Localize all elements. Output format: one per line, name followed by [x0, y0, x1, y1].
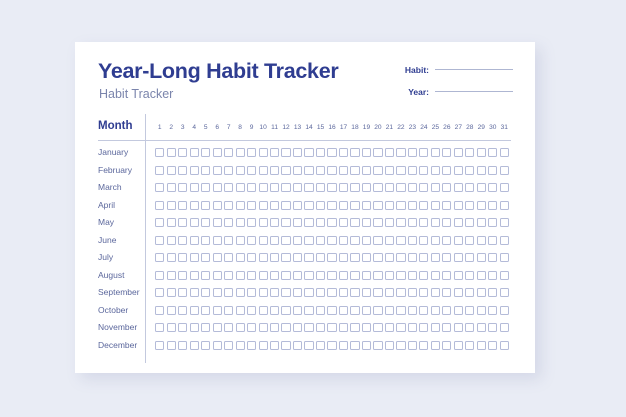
- habit-checkbox[interactable]: [442, 253, 451, 262]
- habit-cell[interactable]: [257, 148, 268, 157]
- habit-checkbox[interactable]: [201, 306, 210, 315]
- habit-checkbox[interactable]: [236, 341, 245, 350]
- habit-checkbox[interactable]: [316, 148, 325, 157]
- habit-cell[interactable]: [223, 288, 234, 297]
- habit-checkbox[interactable]: [201, 201, 210, 210]
- habit-cell[interactable]: [303, 148, 314, 157]
- habit-cell[interactable]: [269, 166, 280, 175]
- habit-checkbox[interactable]: [155, 288, 164, 297]
- habit-cell[interactable]: [338, 306, 349, 315]
- habit-checkbox[interactable]: [270, 201, 279, 210]
- habit-checkbox[interactable]: [304, 323, 313, 332]
- habit-cell[interactable]: [499, 166, 510, 175]
- habit-cell[interactable]: [223, 218, 234, 227]
- habit-checkbox[interactable]: [339, 306, 348, 315]
- habit-cell[interactable]: [361, 253, 372, 262]
- habit-checkbox[interactable]: [373, 183, 382, 192]
- habit-checkbox[interactable]: [247, 236, 256, 245]
- habit-checkbox[interactable]: [167, 236, 176, 245]
- habit-cell[interactable]: [211, 148, 222, 157]
- habit-cell[interactable]: [326, 218, 337, 227]
- habit-checkbox[interactable]: [488, 253, 497, 262]
- habit-cell[interactable]: [246, 201, 257, 210]
- habit-cell[interactable]: [372, 218, 383, 227]
- habit-checkbox[interactable]: [190, 288, 199, 297]
- habit-checkbox[interactable]: [408, 166, 417, 175]
- habit-cell[interactable]: [338, 271, 349, 280]
- habit-checkbox[interactable]: [178, 236, 187, 245]
- habit-cell[interactable]: [234, 306, 245, 315]
- habit-checkbox[interactable]: [167, 166, 176, 175]
- habit-cell[interactable]: [303, 306, 314, 315]
- habit-cell[interactable]: [453, 271, 464, 280]
- habit-cell[interactable]: [234, 323, 245, 332]
- habit-checkbox[interactable]: [178, 166, 187, 175]
- habit-checkbox[interactable]: [362, 323, 371, 332]
- habit-checkbox[interactable]: [488, 288, 497, 297]
- habit-checkbox[interactable]: [454, 323, 463, 332]
- habit-checkbox[interactable]: [488, 183, 497, 192]
- habit-cell[interactable]: [418, 148, 429, 157]
- habit-cell[interactable]: [430, 236, 441, 245]
- habit-cell[interactable]: [487, 323, 498, 332]
- habit-checkbox[interactable]: [316, 306, 325, 315]
- habit-checkbox[interactable]: [213, 236, 222, 245]
- habit-cell[interactable]: [303, 183, 314, 192]
- habit-checkbox[interactable]: [167, 306, 176, 315]
- habit-checkbox[interactable]: [465, 271, 474, 280]
- habit-cell[interactable]: [315, 271, 326, 280]
- habit-checkbox[interactable]: [304, 166, 313, 175]
- habit-checkbox[interactable]: [259, 306, 268, 315]
- habit-cell[interactable]: [372, 253, 383, 262]
- habit-checkbox[interactable]: [488, 341, 497, 350]
- habit-checkbox[interactable]: [408, 218, 417, 227]
- habit-checkbox[interactable]: [396, 253, 405, 262]
- habit-cell[interactable]: [223, 183, 234, 192]
- habit-checkbox[interactable]: [465, 323, 474, 332]
- habit-cell[interactable]: [269, 236, 280, 245]
- habit-checkbox[interactable]: [281, 166, 290, 175]
- habit-cell[interactable]: [464, 288, 475, 297]
- habit-checkbox[interactable]: [373, 236, 382, 245]
- habit-checkbox[interactable]: [259, 218, 268, 227]
- habit-checkbox[interactable]: [224, 288, 233, 297]
- habit-checkbox[interactable]: [213, 341, 222, 350]
- habit-cell[interactable]: [200, 323, 211, 332]
- habit-checkbox[interactable]: [442, 236, 451, 245]
- habit-checkbox[interactable]: [477, 148, 486, 157]
- habit-checkbox[interactable]: [454, 183, 463, 192]
- habit-cell[interactable]: [384, 341, 395, 350]
- habit-cell[interactable]: [476, 341, 487, 350]
- habit-cell[interactable]: [499, 236, 510, 245]
- habit-cell[interactable]: [384, 201, 395, 210]
- habit-cell[interactable]: [349, 253, 360, 262]
- habit-checkbox[interactable]: [213, 323, 222, 332]
- habit-checkbox[interactable]: [259, 183, 268, 192]
- habit-checkbox[interactable]: [419, 183, 428, 192]
- habit-cell[interactable]: [280, 148, 291, 157]
- habit-checkbox[interactable]: [350, 201, 359, 210]
- habit-cell[interactable]: [349, 218, 360, 227]
- habit-checkbox[interactable]: [373, 148, 382, 157]
- habit-checkbox[interactable]: [190, 201, 199, 210]
- habit-checkbox[interactable]: [431, 323, 440, 332]
- habit-checkbox[interactable]: [259, 148, 268, 157]
- habit-checkbox[interactable]: [477, 288, 486, 297]
- habit-checkbox[interactable]: [465, 166, 474, 175]
- habit-cell[interactable]: [418, 288, 429, 297]
- habit-checkbox[interactable]: [339, 271, 348, 280]
- habit-cell[interactable]: [418, 341, 429, 350]
- habit-checkbox[interactable]: [362, 271, 371, 280]
- habit-cell[interactable]: [464, 183, 475, 192]
- habit-cell[interactable]: [315, 218, 326, 227]
- habit-cell[interactable]: [407, 201, 418, 210]
- habit-cell[interactable]: [154, 236, 165, 245]
- habit-checkbox[interactable]: [178, 218, 187, 227]
- habit-checkbox[interactable]: [259, 201, 268, 210]
- habit-cell[interactable]: [177, 201, 188, 210]
- habit-checkbox[interactable]: [500, 166, 509, 175]
- habit-checkbox[interactable]: [316, 201, 325, 210]
- habit-checkbox[interactable]: [477, 253, 486, 262]
- habit-checkbox[interactable]: [293, 236, 302, 245]
- habit-checkbox[interactable]: [477, 271, 486, 280]
- habit-checkbox[interactable]: [419, 323, 428, 332]
- habit-checkbox[interactable]: [270, 341, 279, 350]
- habit-checkbox[interactable]: [350, 166, 359, 175]
- habit-checkbox[interactable]: [213, 183, 222, 192]
- habit-checkbox[interactable]: [316, 166, 325, 175]
- habit-cell[interactable]: [349, 148, 360, 157]
- habit-checkbox[interactable]: [316, 341, 325, 350]
- habit-cell[interactable]: [453, 166, 464, 175]
- habit-cell[interactable]: [177, 271, 188, 280]
- habit-cell[interactable]: [177, 148, 188, 157]
- habit-cell[interactable]: [372, 148, 383, 157]
- habit-checkbox[interactable]: [236, 148, 245, 157]
- habit-checkbox[interactable]: [224, 218, 233, 227]
- habit-cell[interactable]: [165, 183, 176, 192]
- habit-checkbox[interactable]: [431, 148, 440, 157]
- habit-checkbox[interactable]: [477, 236, 486, 245]
- habit-cell[interactable]: [395, 201, 406, 210]
- habit-cell[interactable]: [407, 218, 418, 227]
- habit-checkbox[interactable]: [316, 253, 325, 262]
- habit-checkbox[interactable]: [350, 236, 359, 245]
- habit-cell[interactable]: [326, 341, 337, 350]
- habit-cell[interactable]: [303, 218, 314, 227]
- habit-cell[interactable]: [234, 341, 245, 350]
- habit-cell[interactable]: [211, 341, 222, 350]
- habit-cell[interactable]: [326, 236, 337, 245]
- habit-checkbox[interactable]: [327, 253, 336, 262]
- habit-checkbox[interactable]: [431, 201, 440, 210]
- habit-cell[interactable]: [177, 253, 188, 262]
- habit-cell[interactable]: [441, 183, 452, 192]
- habit-cell[interactable]: [361, 183, 372, 192]
- habit-checkbox[interactable]: [396, 148, 405, 157]
- habit-checkbox[interactable]: [465, 148, 474, 157]
- habit-cell[interactable]: [200, 148, 211, 157]
- habit-checkbox[interactable]: [373, 288, 382, 297]
- habit-cell[interactable]: [154, 323, 165, 332]
- habit-cell[interactable]: [246, 288, 257, 297]
- habit-cell[interactable]: [165, 236, 176, 245]
- habit-cell[interactable]: [188, 166, 199, 175]
- habit-cell[interactable]: [269, 183, 280, 192]
- habit-checkbox[interactable]: [281, 236, 290, 245]
- habit-cell[interactable]: [476, 201, 487, 210]
- habit-cell[interactable]: [211, 271, 222, 280]
- habit-cell[interactable]: [269, 306, 280, 315]
- habit-checkbox[interactable]: [236, 323, 245, 332]
- habit-checkbox[interactable]: [442, 201, 451, 210]
- habit-cell[interactable]: [154, 183, 165, 192]
- habit-checkbox[interactable]: [385, 323, 394, 332]
- habit-checkbox[interactable]: [247, 166, 256, 175]
- habit-checkbox[interactable]: [270, 148, 279, 157]
- habit-checkbox[interactable]: [396, 323, 405, 332]
- habit-cell[interactable]: [246, 236, 257, 245]
- habit-cell[interactable]: [372, 288, 383, 297]
- habit-checkbox[interactable]: [259, 253, 268, 262]
- habit-checkbox[interactable]: [396, 218, 405, 227]
- habit-cell[interactable]: [280, 183, 291, 192]
- habit-checkbox[interactable]: [362, 306, 371, 315]
- habit-cell[interactable]: [165, 306, 176, 315]
- habit-checkbox[interactable]: [385, 341, 394, 350]
- habit-cell[interactable]: [269, 148, 280, 157]
- habit-cell[interactable]: [223, 253, 234, 262]
- habit-checkbox[interactable]: [213, 218, 222, 227]
- habit-checkbox[interactable]: [270, 323, 279, 332]
- habit-checkbox[interactable]: [247, 323, 256, 332]
- habit-cell[interactable]: [257, 253, 268, 262]
- habit-cell[interactable]: [165, 253, 176, 262]
- habit-cell[interactable]: [384, 166, 395, 175]
- habit-checkbox[interactable]: [247, 288, 256, 297]
- habit-field-input-line[interactable]: [435, 69, 513, 70]
- habit-cell[interactable]: [430, 166, 441, 175]
- habit-checkbox[interactable]: [224, 166, 233, 175]
- habit-cell[interactable]: [476, 271, 487, 280]
- habit-cell[interactable]: [154, 201, 165, 210]
- habit-checkbox[interactable]: [362, 236, 371, 245]
- habit-checkbox[interactable]: [442, 306, 451, 315]
- habit-checkbox[interactable]: [293, 183, 302, 192]
- habit-cell[interactable]: [177, 183, 188, 192]
- habit-checkbox[interactable]: [178, 288, 187, 297]
- habit-cell[interactable]: [165, 218, 176, 227]
- habit-checkbox[interactable]: [350, 271, 359, 280]
- habit-cell[interactable]: [269, 288, 280, 297]
- habit-checkbox[interactable]: [316, 323, 325, 332]
- habit-checkbox[interactable]: [339, 218, 348, 227]
- year-field-input-line[interactable]: [435, 91, 513, 92]
- habit-cell[interactable]: [384, 306, 395, 315]
- habit-checkbox[interactable]: [270, 271, 279, 280]
- habit-checkbox[interactable]: [293, 148, 302, 157]
- habit-cell[interactable]: [303, 236, 314, 245]
- habit-checkbox[interactable]: [167, 323, 176, 332]
- habit-checkbox[interactable]: [236, 236, 245, 245]
- habit-cell[interactable]: [269, 271, 280, 280]
- habit-cell[interactable]: [464, 201, 475, 210]
- habit-checkbox[interactable]: [247, 271, 256, 280]
- habit-cell[interactable]: [188, 288, 199, 297]
- habit-checkbox[interactable]: [190, 218, 199, 227]
- habit-cell[interactable]: [269, 253, 280, 262]
- habit-cell[interactable]: [188, 253, 199, 262]
- habit-cell[interactable]: [407, 288, 418, 297]
- habit-cell[interactable]: [384, 323, 395, 332]
- habit-cell[interactable]: [361, 323, 372, 332]
- habit-cell[interactable]: [326, 323, 337, 332]
- habit-cell[interactable]: [441, 236, 452, 245]
- habit-checkbox[interactable]: [281, 201, 290, 210]
- habit-cell[interactable]: [361, 236, 372, 245]
- habit-checkbox[interactable]: [293, 253, 302, 262]
- habit-cell[interactable]: [326, 201, 337, 210]
- habit-checkbox[interactable]: [281, 271, 290, 280]
- habit-cell[interactable]: [280, 201, 291, 210]
- habit-checkbox[interactable]: [155, 148, 164, 157]
- habit-cell[interactable]: [372, 271, 383, 280]
- habit-cell[interactable]: [292, 288, 303, 297]
- habit-checkbox[interactable]: [190, 323, 199, 332]
- habit-checkbox[interactable]: [431, 166, 440, 175]
- habit-cell[interactable]: [211, 183, 222, 192]
- habit-cell[interactable]: [257, 166, 268, 175]
- habit-cell[interactable]: [487, 253, 498, 262]
- habit-cell[interactable]: [418, 166, 429, 175]
- habit-checkbox[interactable]: [281, 148, 290, 157]
- habit-checkbox[interactable]: [488, 218, 497, 227]
- habit-checkbox[interactable]: [350, 253, 359, 262]
- habit-checkbox[interactable]: [477, 341, 486, 350]
- habit-cell[interactable]: [453, 183, 464, 192]
- habit-checkbox[interactable]: [373, 253, 382, 262]
- habit-checkbox[interactable]: [373, 306, 382, 315]
- habit-checkbox[interactable]: [224, 323, 233, 332]
- habit-checkbox[interactable]: [339, 236, 348, 245]
- habit-checkbox[interactable]: [385, 218, 394, 227]
- habit-checkbox[interactable]: [327, 148, 336, 157]
- habit-cell[interactable]: [257, 218, 268, 227]
- habit-cell[interactable]: [384, 271, 395, 280]
- habit-checkbox[interactable]: [362, 218, 371, 227]
- habit-cell[interactable]: [384, 148, 395, 157]
- habit-checkbox[interactable]: [408, 323, 417, 332]
- habit-checkbox[interactable]: [339, 253, 348, 262]
- habit-checkbox[interactable]: [236, 166, 245, 175]
- habit-checkbox[interactable]: [454, 253, 463, 262]
- habit-checkbox[interactable]: [167, 201, 176, 210]
- habit-cell[interactable]: [177, 218, 188, 227]
- habit-cell[interactable]: [384, 288, 395, 297]
- habit-checkbox[interactable]: [385, 166, 394, 175]
- habit-checkbox[interactable]: [442, 183, 451, 192]
- habit-checkbox[interactable]: [327, 323, 336, 332]
- habit-checkbox[interactable]: [465, 201, 474, 210]
- habit-checkbox[interactable]: [408, 288, 417, 297]
- habit-cell[interactable]: [188, 306, 199, 315]
- habit-cell[interactable]: [349, 236, 360, 245]
- habit-cell[interactable]: [177, 166, 188, 175]
- habit-checkbox[interactable]: [155, 236, 164, 245]
- habit-cell[interactable]: [211, 166, 222, 175]
- habit-checkbox[interactable]: [488, 201, 497, 210]
- habit-checkbox[interactable]: [339, 166, 348, 175]
- habit-cell[interactable]: [418, 201, 429, 210]
- habit-checkbox[interactable]: [167, 341, 176, 350]
- habit-cell[interactable]: [292, 183, 303, 192]
- habit-checkbox[interactable]: [419, 341, 428, 350]
- habit-cell[interactable]: [476, 306, 487, 315]
- habit-checkbox[interactable]: [442, 218, 451, 227]
- habit-checkbox[interactable]: [316, 271, 325, 280]
- habit-checkbox[interactable]: [304, 201, 313, 210]
- habit-cell[interactable]: [200, 166, 211, 175]
- habit-checkbox[interactable]: [419, 201, 428, 210]
- habit-cell[interactable]: [292, 253, 303, 262]
- habit-cell[interactable]: [223, 323, 234, 332]
- habit-checkbox[interactable]: [477, 201, 486, 210]
- habit-checkbox[interactable]: [431, 271, 440, 280]
- habit-cell[interactable]: [165, 341, 176, 350]
- habit-checkbox[interactable]: [396, 183, 405, 192]
- habit-cell[interactable]: [372, 201, 383, 210]
- habit-cell[interactable]: [338, 201, 349, 210]
- habit-cell[interactable]: [441, 271, 452, 280]
- habit-cell[interactable]: [407, 271, 418, 280]
- habit-cell[interactable]: [487, 341, 498, 350]
- habit-checkbox[interactable]: [316, 218, 325, 227]
- habit-cell[interactable]: [338, 218, 349, 227]
- habit-checkbox[interactable]: [500, 288, 509, 297]
- habit-checkbox[interactable]: [224, 306, 233, 315]
- habit-checkbox[interactable]: [477, 323, 486, 332]
- habit-checkbox[interactable]: [465, 218, 474, 227]
- habit-checkbox[interactable]: [316, 236, 325, 245]
- habit-cell[interactable]: [361, 306, 372, 315]
- habit-checkbox[interactable]: [167, 253, 176, 262]
- habit-cell[interactable]: [154, 306, 165, 315]
- habit-checkbox[interactable]: [178, 183, 187, 192]
- habit-cell[interactable]: [430, 148, 441, 157]
- habit-checkbox[interactable]: [281, 323, 290, 332]
- habit-checkbox[interactable]: [190, 183, 199, 192]
- habit-cell[interactable]: [200, 236, 211, 245]
- habit-cell[interactable]: [223, 341, 234, 350]
- habit-checkbox[interactable]: [442, 341, 451, 350]
- habit-cell[interactable]: [177, 288, 188, 297]
- habit-checkbox[interactable]: [488, 306, 497, 315]
- habit-checkbox[interactable]: [408, 253, 417, 262]
- habit-checkbox[interactable]: [442, 166, 451, 175]
- habit-checkbox[interactable]: [408, 306, 417, 315]
- habit-checkbox[interactable]: [167, 288, 176, 297]
- habit-checkbox[interactable]: [362, 183, 371, 192]
- habit-cell[interactable]: [292, 341, 303, 350]
- habit-checkbox[interactable]: [293, 218, 302, 227]
- habit-cell[interactable]: [257, 201, 268, 210]
- habit-cell[interactable]: [303, 341, 314, 350]
- habit-checkbox[interactable]: [236, 253, 245, 262]
